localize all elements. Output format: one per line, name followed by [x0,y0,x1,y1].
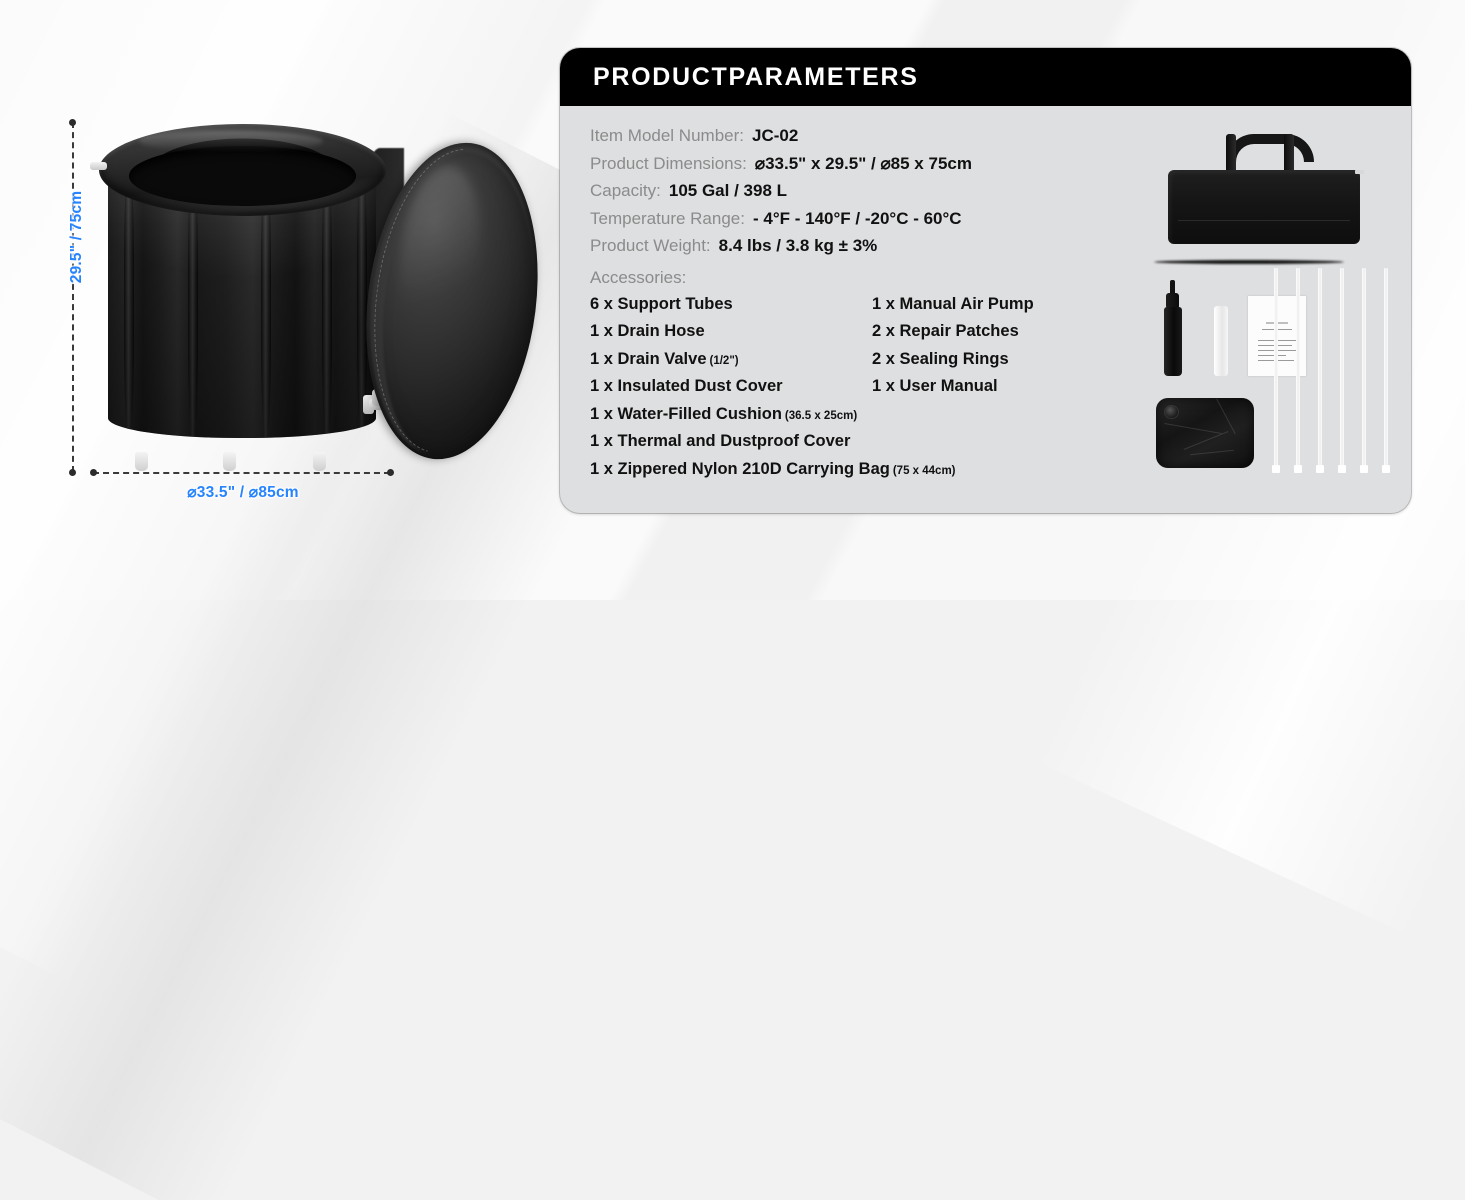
acc-text: 1 x Drain Valve [590,350,707,368]
bag-body [1168,170,1360,244]
spec-value: 8.4 lbs / 3.8 kg ± 3% [719,236,878,256]
air-valve-icon [90,162,107,170]
acc-note: (1/2") [710,355,739,367]
list-item: 2 x Sealing Rings [872,346,1122,374]
acc-text: 1 x Drain Hose [590,322,705,340]
width-dimension-line [93,472,390,474]
acc-text: 1 x Zippered Nylon 210D Carrying Bag [590,460,890,478]
inflatable-top-ring [99,124,386,216]
spec-label: Item Model Number: [590,126,744,146]
ice-bath-tub-photo [95,118,390,466]
bag-zipper [1355,170,1364,174]
spec-label: Product Weight: [590,236,711,256]
cushion-crease [1190,450,1234,456]
support-tube [1340,268,1344,468]
support-tube-cap [1272,465,1280,473]
spec-value: JC-02 [752,126,798,146]
accessories-grid: 6 x Support Tubes 1 x Drain Hose 1 x Dra… [590,291,1130,401]
spec-label: Capacity: [590,181,661,201]
support-tube [1318,268,1322,468]
cushion-valve [1165,406,1178,418]
list-item: 1 x Drain Hose [590,318,872,346]
list-item: 1 x User Manual [872,373,1122,401]
support-tube [1296,268,1300,468]
accessories-column-left: 6 x Support Tubes 1 x Drain Hose 1 x Dra… [590,291,872,401]
dimension-endpoint-dot [69,469,76,476]
support-tube-cap [1382,465,1390,473]
support-tube [1274,268,1278,468]
spec-label: Product Dimensions: [590,154,747,174]
acc-text: 2 x Repair Patches [872,322,1019,340]
manual-text-line [1258,355,1286,356]
list-item: 2 x Repair Patches [872,318,1122,346]
cushion-crease [1164,423,1221,434]
tub-foot [223,452,236,471]
tub-opening [129,146,356,206]
spec-label: Temperature Range: [590,209,745,229]
bag-handle [1226,134,1314,162]
list-item: 1 x Zippered Nylon 210D Carrying Bag(75 … [590,456,1130,484]
spec-value: ⌀33.5" x 29.5" / ⌀85 x 75cm [755,154,972,174]
acc-text: 1 x User Manual [872,377,998,395]
acc-text: 2 x Sealing Rings [872,350,1009,368]
sealing-rings-photo [1214,306,1228,376]
list-item: 1 x Water-Filled Cushion(36.5 x 25cm) [590,401,1130,429]
spec-value: - 4°F - 140°F / -20°C - 60°C [753,209,962,229]
bag-seam [1178,220,1350,221]
width-dimension-label: ⌀33.5" / ⌀85cm [93,483,393,502]
list-item: 1 x Thermal and Dustproof Cover [590,428,1130,456]
acc-text: 6 x Support Tubes [590,295,733,313]
ring-highlight [139,130,323,152]
dimension-endpoint-dot [90,469,97,476]
support-tube-cap [1360,465,1368,473]
water-filled-cushion-photo [1156,398,1254,468]
acc-note: (75 x 44cm) [893,465,956,477]
bag-base-shadow [1154,260,1344,264]
accessories-column-right: 1 x Manual Air Pump 2 x Repair Patches 2… [872,291,1122,401]
tub-foot [313,452,326,471]
panel-header: PRODUCTPARAMETERS [560,48,1411,106]
height-dimension-label: 29.5" / 75cm [68,172,86,302]
list-item: 1 x Insulated Dust Cover [590,373,872,401]
specs-and-accessories: Item Model Number: JC-02 Product Dimensi… [590,126,1130,513]
dimension-endpoint-dot [69,119,76,126]
acc-text: 1 x Thermal and Dustproof Cover [590,432,850,450]
accessories-label: Accessories: [590,264,1130,291]
spec-row-capacity: Capacity: 105 Gal / 398 L [590,181,1130,209]
support-tube [1362,268,1366,468]
tub-foot [135,452,148,471]
spec-row-temperature: Temperature Range: - 4°F - 140°F / -20°C… [590,209,1130,237]
dimension-endpoint-dot [387,469,394,476]
carrying-bag-photo [1168,134,1360,244]
support-tube-cap [1294,465,1302,473]
manual-air-pump-photo [1164,280,1182,376]
list-item: 1 x Drain Valve(1/2") [590,346,872,374]
pump-barrel [1164,307,1182,376]
acc-text: 1 x Manual Air Pump [872,295,1034,313]
spec-row-dimensions: Product Dimensions: ⌀33.5" x 29.5" / ⌀85… [590,154,1130,182]
list-item: 6 x Support Tubes [590,291,872,319]
cushion-crease [1216,399,1236,435]
acc-note: (36.5 x 25cm) [785,410,857,422]
product-parameters-panel: PRODUCTPARAMETERS Item Model Number: JC-… [560,48,1411,513]
accessory-photos [1140,120,1395,505]
spec-row-model: Item Model Number: JC-02 [590,126,1130,154]
acc-text: 1 x Water-Filled Cushion [590,405,782,423]
panel-body: Item Model Number: JC-02 Product Dimensi… [560,106,1411,513]
cushion-crease [1184,431,1229,450]
acc-text: 1 x Insulated Dust Cover [590,377,783,395]
page-title: PRODUCTPARAMETERS [593,63,919,92]
support-tube-cap [1338,465,1346,473]
product-figure: 29.5" / 75cm ⌀33.5" / ⌀85cm [0,0,545,600]
support-tube [1384,268,1388,468]
list-item: 1 x Manual Air Pump [872,291,1122,319]
spec-row-weight: Product Weight: 8.4 lbs / 3.8 kg ± 3% [590,236,1130,264]
support-tube-cap [1316,465,1324,473]
spec-value: 105 Gal / 398 L [669,181,787,201]
